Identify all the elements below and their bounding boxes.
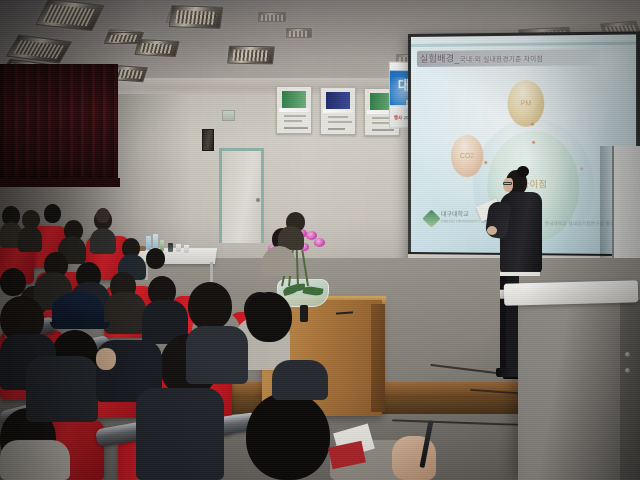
podium-side-panel [620, 300, 640, 480]
audience-body-f5 [136, 388, 224, 480]
audience-cap [52, 292, 104, 326]
audience-head-b3 [44, 204, 61, 223]
audience-body-m3 [104, 292, 146, 334]
presenter-hand [487, 226, 497, 235]
audience-cap-brim-icon [50, 322, 110, 329]
slide-title-sub: 국내·외 실내환경기준 차이점 [460, 56, 543, 64]
co2-bubble: CO2 [451, 135, 483, 177]
ceiling-light-10 [227, 46, 275, 65]
audience-body-f2 [26, 356, 98, 422]
audience-body-b4 [90, 228, 116, 254]
podium-surface [504, 280, 639, 306]
door [219, 148, 264, 243]
mobile-phone[interactable] [300, 305, 308, 322]
audience-hand [392, 436, 436, 480]
banner-tag: 행사 [394, 115, 402, 121]
podium-knob-2[interactable] [625, 368, 630, 373]
orchid-bloom-6 [314, 238, 325, 247]
pm-bubble: PM [508, 80, 545, 127]
slide-dot-4 [580, 167, 583, 170]
slide-logo-text: 대구대학교 DAEGU UNIVERSITY [441, 213, 480, 224]
podium [518, 296, 634, 480]
ceiling-light-11 [286, 28, 312, 38]
water-bottle-1 [146, 236, 151, 250]
slide-title: 실험배경_국내·외 실내환경기준 차이점 [420, 49, 608, 67]
audience-head-f4 [246, 292, 292, 342]
curtain-shading [0, 64, 118, 186]
ceiling-light-12 [258, 12, 286, 22]
ceiling-light-9 [169, 5, 224, 29]
slide-dot-3 [484, 161, 487, 164]
presenter-hair-bun [517, 166, 529, 177]
presenter-face [503, 178, 513, 192]
audience-hand-2 [96, 348, 116, 370]
audience-body-b2 [18, 226, 42, 252]
slide-highlight [582, 51, 628, 92]
audience-body-f8 [272, 360, 328, 400]
slide-dot-1 [531, 123, 534, 126]
wall-speaker-icon [202, 129, 214, 151]
audience-body-f4 [186, 326, 248, 384]
beverage-can-1 [168, 243, 173, 252]
audience-head-f6 [246, 392, 330, 480]
lecture-hall-photo: 대구 대 행사 2009. 11. 실험배경_국내·외 실내환경기준 차이점 P… [0, 0, 640, 480]
audience-body-f6 [0, 440, 70, 480]
lectern-side-panel [371, 304, 385, 412]
audience-head-b10 [96, 208, 110, 223]
paper-cup-2 [184, 245, 189, 253]
door-handle-icon [256, 198, 260, 202]
podium-knob-1[interactable] [625, 352, 630, 357]
presenter-shoe-front [496, 368, 520, 377]
paper-cup-1 [176, 244, 181, 252]
glasses-icon [503, 182, 512, 185]
audience-head-f3 [188, 282, 232, 330]
audience-head-b9 [146, 248, 165, 269]
poster-center [320, 87, 356, 135]
curtain-hem [0, 178, 120, 187]
audience-body-b7 [262, 246, 296, 276]
slide-title-main: 실험배경_ [420, 54, 460, 64]
daegu-university-diamond-icon [422, 209, 440, 227]
ceiling-light-7 [134, 39, 179, 57]
logo-english: DAEGU UNIVERSITY [441, 220, 480, 224]
exit-sign-icon [222, 110, 235, 121]
slide-dot-2 [532, 141, 535, 144]
poster-left [276, 86, 312, 134]
slide-logo: 대구대학교 DAEGU UNIVERSITY [425, 210, 483, 226]
table-leg-2 [210, 262, 213, 284]
